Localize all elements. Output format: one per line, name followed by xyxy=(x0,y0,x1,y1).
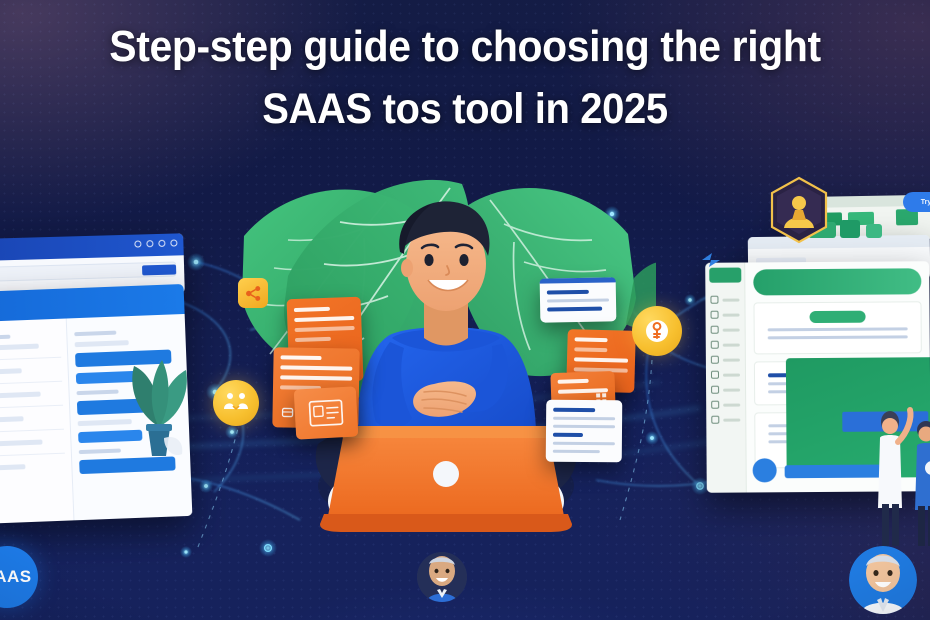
detail-label xyxy=(79,449,121,455)
key-security-badge[interactable] xyxy=(632,306,682,356)
avatar-portrait xyxy=(417,552,467,602)
share-nodes-icon xyxy=(245,285,262,302)
column-label xyxy=(0,335,11,340)
share-nodes-badge[interactable] xyxy=(238,278,268,308)
detail-label xyxy=(74,331,116,337)
id-card-icon xyxy=(308,399,343,427)
key-icon xyxy=(643,317,671,345)
sidebar-item[interactable] xyxy=(710,296,739,304)
stat-card xyxy=(753,301,921,354)
chat-fab-button[interactable] xyxy=(753,458,777,482)
green-banner[interactable] xyxy=(753,268,921,295)
pill-label: Try xyxy=(921,199,930,206)
avatar-bottom-right[interactable] xyxy=(849,546,917,614)
bell-icon xyxy=(711,401,719,409)
cart-icon xyxy=(146,240,153,247)
divider xyxy=(0,429,64,433)
users-icon xyxy=(711,311,719,319)
sidebar-item[interactable] xyxy=(711,341,740,349)
handshake-network-icon xyxy=(222,389,250,417)
divider xyxy=(0,405,63,409)
calendar-icon xyxy=(711,386,719,394)
avatar-portrait xyxy=(849,546,917,614)
user-icon xyxy=(158,240,165,247)
right-dashboard-sidebar[interactable] xyxy=(705,263,747,493)
headline-line-1: Step-step guide to choosing the right xyxy=(38,16,892,78)
divider xyxy=(0,357,61,361)
arrow-node-icon xyxy=(700,250,722,270)
divider xyxy=(0,381,62,385)
green-chip[interactable] xyxy=(840,220,860,238)
content-line xyxy=(768,335,908,339)
floating-card-white[interactable] xyxy=(540,277,617,322)
refresh-icon xyxy=(134,240,141,247)
headline: Step-step guide to choosing the right SA… xyxy=(0,16,930,140)
sidebar-item[interactable] xyxy=(711,311,740,319)
dashboard-icon xyxy=(710,296,718,304)
table-row xyxy=(0,368,22,375)
floating-card-orange[interactable] xyxy=(294,386,359,439)
sidebar-item[interactable] xyxy=(711,416,740,424)
left-dashboard-table-column xyxy=(0,318,74,524)
sidebar-item[interactable] xyxy=(711,386,740,394)
avatar-bottom-center[interactable] xyxy=(417,552,467,602)
table-row xyxy=(0,439,43,446)
gear-icon xyxy=(711,356,719,364)
collaboration-badge[interactable] xyxy=(213,380,259,426)
menu-icon xyxy=(170,239,177,246)
green-button[interactable] xyxy=(810,311,866,323)
hero-illustration: Step-step guide to choosing the right SA… xyxy=(0,0,930,620)
folder-icon xyxy=(711,371,719,379)
table-row xyxy=(0,464,26,471)
hex-avatar-badge[interactable] xyxy=(768,176,830,244)
people-illustration-right xyxy=(868,396,930,546)
floating-card-white[interactable] xyxy=(546,400,623,463)
chart-icon xyxy=(711,341,719,349)
card-header xyxy=(540,277,616,283)
divider xyxy=(0,453,65,457)
table-row xyxy=(0,416,24,423)
chip-icon xyxy=(280,405,294,419)
green-chip[interactable] xyxy=(866,224,882,238)
try-pill-button[interactable]: Try xyxy=(903,192,930,212)
headline-line-2: SAAS tos tool in 2025 xyxy=(38,78,892,140)
detail-label xyxy=(77,390,119,396)
sidebar-item[interactable] xyxy=(711,371,740,379)
saas-label: SAAS xyxy=(0,567,32,587)
clock-icon xyxy=(711,326,719,334)
sidebar-item[interactable] xyxy=(711,356,740,364)
table-row xyxy=(0,392,41,399)
left-dashboard-header-icons xyxy=(134,239,177,247)
content-line xyxy=(768,327,908,331)
doc-icon xyxy=(711,416,719,424)
table-row xyxy=(0,344,39,351)
houseplant-illustration xyxy=(118,330,196,480)
sidebar-item[interactable] xyxy=(711,401,740,409)
sidebar-item[interactable] xyxy=(711,326,740,334)
primary-button[interactable] xyxy=(142,264,176,275)
